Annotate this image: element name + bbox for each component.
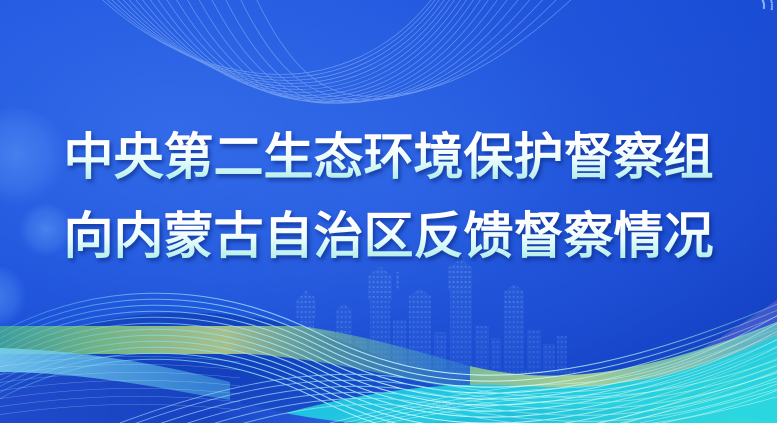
title-line-2: 向内蒙古自治区反馈督察情况 [0, 197, 777, 276]
wave-band-light-cyan [0, 348, 230, 400]
wave-band-violet [560, 300, 777, 416]
wave-band-foreground-dark [0, 372, 360, 423]
wave-band-green [0, 326, 470, 392]
wave-band-green-right [470, 322, 777, 395]
wave-band-turquoise [250, 336, 777, 423]
glow-circle-tiny [0, 266, 28, 334]
banner-title: 中央第二生态环境保护督察组 向内蒙古自治区反馈督察情况 [0, 118, 777, 276]
wave-band-turquoise-light [430, 406, 777, 423]
banner-image: 中央第二生态环境保护督察组 向内蒙古自治区反馈督察情况 中国网 [0, 0, 777, 423]
watermark-text: 中国网 [432, 398, 462, 411]
wave-band-deep [0, 312, 777, 423]
title-line-1: 中央第二生态环境保护督察组 [0, 118, 777, 197]
